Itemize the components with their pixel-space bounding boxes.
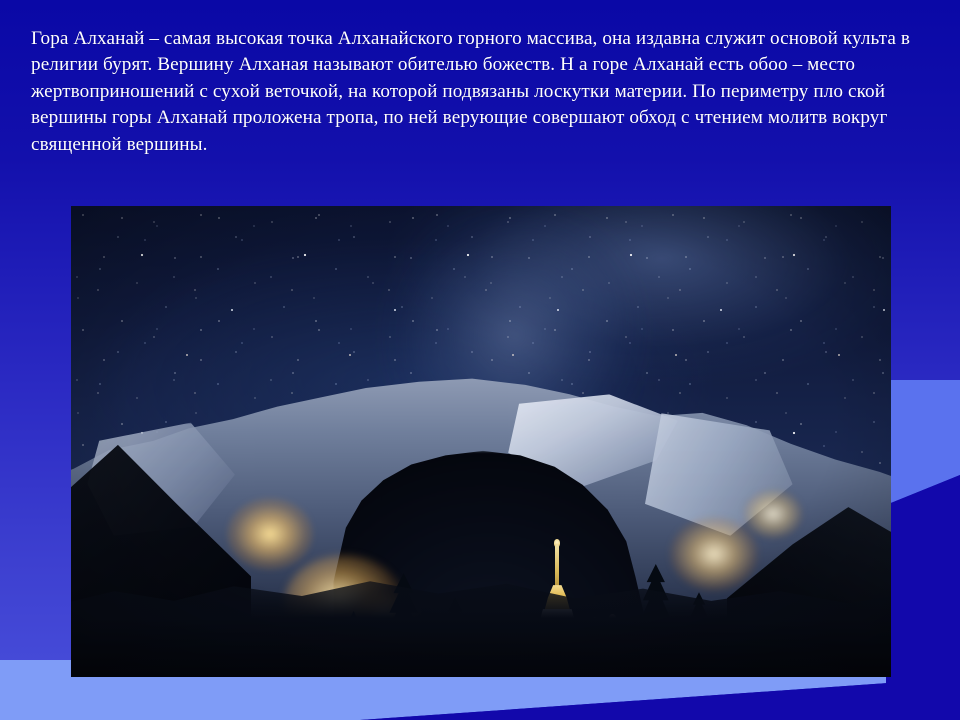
photo-content	[71, 206, 891, 677]
stupa-spire	[555, 545, 559, 589]
rock-formation	[71, 206, 891, 677]
slide-photo	[71, 206, 891, 677]
slide-body-text: Гора Алханай – самая высокая точка Алхан…	[31, 26, 928, 158]
presentation-slide: Гора Алханай – самая высокая точка Алхан…	[0, 0, 960, 720]
